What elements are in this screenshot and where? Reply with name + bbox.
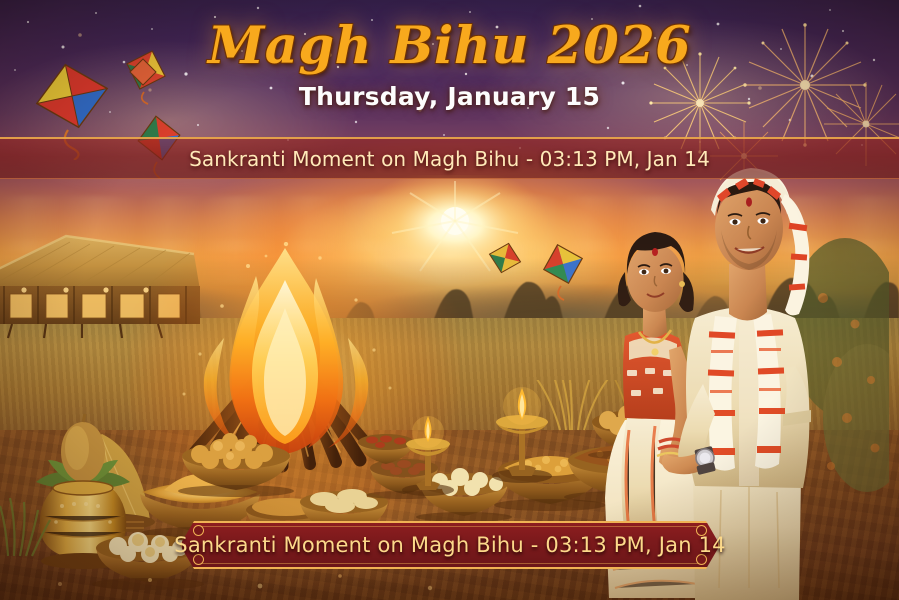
sankranti-moment-banner-top: Sankranti Moment on Magh Bihu - 03:13 PM… [0, 137, 899, 179]
laddoo-bowl [178, 433, 294, 497]
sankranti-moment-ribbon: Sankranti Moment on Magh Bihu - 03:13 PM… [180, 521, 720, 569]
festival-date: Thursday, January 15 [0, 82, 899, 111]
kite-right-b [534, 240, 592, 302]
wristwatch [694, 446, 716, 475]
sankranti-moment-bottom-text: Sankranti Moment on Magh Bihu - 03:13 PM… [180, 521, 720, 569]
kite-right-a [484, 240, 526, 286]
coconut [61, 414, 105, 482]
magh-bihu-poster: Magh Bihu 2026 Thursday, January 15 Sank… [0, 0, 899, 600]
sankranti-moment-top-text: Sankranti Moment on Magh Bihu - 03:13 PM… [189, 147, 710, 171]
page-title: Magh Bihu 2026 [0, 16, 899, 76]
